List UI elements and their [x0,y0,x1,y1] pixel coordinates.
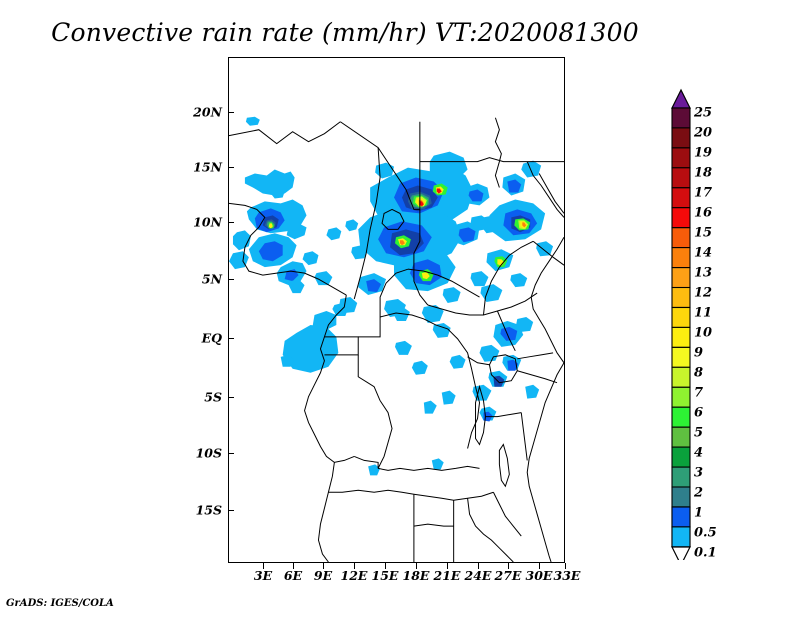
y-tick-label-5S: 5S [180,390,222,405]
rain-rate-field [229,117,553,476]
y-tick-mark [228,279,234,280]
colorbar-label-1: 1 [694,506,703,521]
x-tick-label-15E: 15E [372,568,399,583]
y-tick-label-10S: 10S [180,446,222,461]
y-tick-label-15S: 15S [180,503,222,518]
colorbar-label-11: 11 [694,306,712,321]
y-tick-label-5N: 5N [180,272,222,287]
rain-cluster-west-africa [229,117,358,293]
rain-cluster-rift-lakes [368,307,539,475]
y-tick-mark [228,453,234,454]
y-tick-mark [228,510,234,511]
y-tick-label-EQ: EQ [180,331,222,346]
colorbar-label-12: 12 [694,286,712,301]
colorbar-label-18: 18 [694,166,712,181]
x-tick-label-24E: 24E [465,568,492,583]
colorbar-label-6: 6 [694,406,703,421]
y-tick-label-20N: 20N [180,105,222,120]
colorbar-label-15: 15 [694,226,712,241]
colorbar-label-14: 14 [694,246,712,261]
colorbar-label-0.1: 0.1 [694,546,717,561]
x-tick-label-6E: 6E [284,568,302,583]
map-panel [228,57,565,563]
y-tick-mark [228,338,234,339]
colorbar-label-9: 9 [694,346,703,361]
colorbar-label-17: 17 [694,186,712,201]
y-tick-label-10N: 10N [180,215,222,230]
colorbar-label-3: 3 [694,466,703,481]
colorbar-label-25: 25 [694,106,712,121]
grads-credit: GrADS: IGES/COLA [6,598,114,609]
colorbar-label-5: 5 [694,426,703,441]
grads-plot-window: Convective rain rate (mm/hr) VT:20200813… [0,0,800,618]
y-tick-mark [228,397,234,398]
x-tick-label-18E: 18E [403,568,430,583]
colorbar-label-10: 10 [694,326,712,341]
x-tick-label-9E: 9E [314,568,332,583]
x-tick-label-3E: 3E [254,568,272,583]
colorbar-label-0.5: 0.5 [694,526,717,541]
colorbar: 25 20 19 18 17 16 15 14 13 12 11 10 9 8 … [670,60,790,560]
x-tick-label-21E: 21E [434,568,461,583]
x-tick-label-12E: 12E [341,568,368,583]
y-tick-mark [228,167,234,168]
colorbar-label-4: 4 [694,446,703,461]
colorbar-label-7: 7 [694,386,703,401]
y-tick-label-15N: 15N [180,160,222,175]
colorbar-label-19: 19 [694,146,712,161]
colorbar-label-20: 20 [694,126,712,141]
rain-cluster-central-sahel [339,152,501,323]
y-tick-mark [228,222,234,223]
colorbar-label-16: 16 [694,206,712,221]
x-tick-label-27E: 27E [495,568,522,583]
colorbar-label-2: 2 [694,486,703,501]
x-tick-label-33E: 33E [554,568,581,583]
x-tick-label-30E: 30E [526,568,553,583]
map-canvas [229,58,564,562]
colorbar-label-13: 13 [694,266,712,281]
y-tick-mark [228,112,234,113]
colorbar-label-8: 8 [694,366,703,381]
page-title: Convective rain rate (mm/hr) VT:20200813… [0,18,690,47]
